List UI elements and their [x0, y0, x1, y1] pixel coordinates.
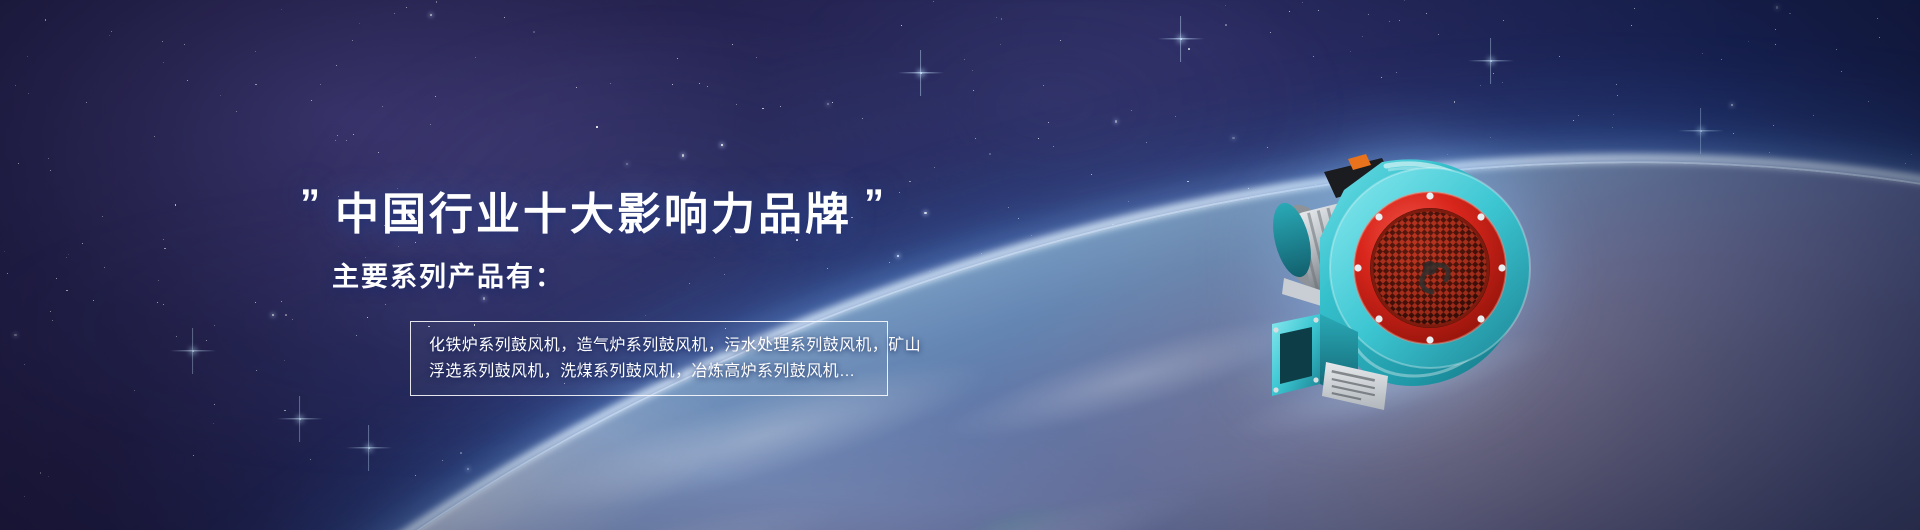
quote-close-icon: ”	[864, 184, 887, 224]
quote-open-icon: ”	[300, 184, 323, 224]
subheadline: 主要系列产品有：	[332, 255, 564, 294]
copy-block: ” 中国行业十大影响力品牌 ” 主要系列产品有： 化铁炉系列鼓风机，造气炉系列鼓…	[0, 0, 1150, 530]
centrifugal-blower-image	[1262, 118, 1562, 418]
product-list-line: 化铁炉系列鼓风机，造气炉系列鼓风机，污水处理系列鼓风机，矿山	[429, 333, 869, 359]
product-list-box: 化铁炉系列鼓风机，造气炉系列鼓风机，污水处理系列鼓风机，矿山 浮选系列鼓风机，洗…	[410, 321, 888, 396]
headline-text: 中国行业十大影响力品牌	[335, 178, 852, 242]
product-list-line: 浮选系列鼓风机，洗煤系列鼓风机，冶炼高炉系列鼓风机…	[429, 359, 869, 385]
headline: ” 中国行业十大影响力品牌 ”	[300, 178, 887, 242]
promo-banner: ” 中国行业十大影响力品牌 ” 主要系列产品有： 化铁炉系列鼓风机，造气炉系列鼓…	[0, 0, 1920, 530]
